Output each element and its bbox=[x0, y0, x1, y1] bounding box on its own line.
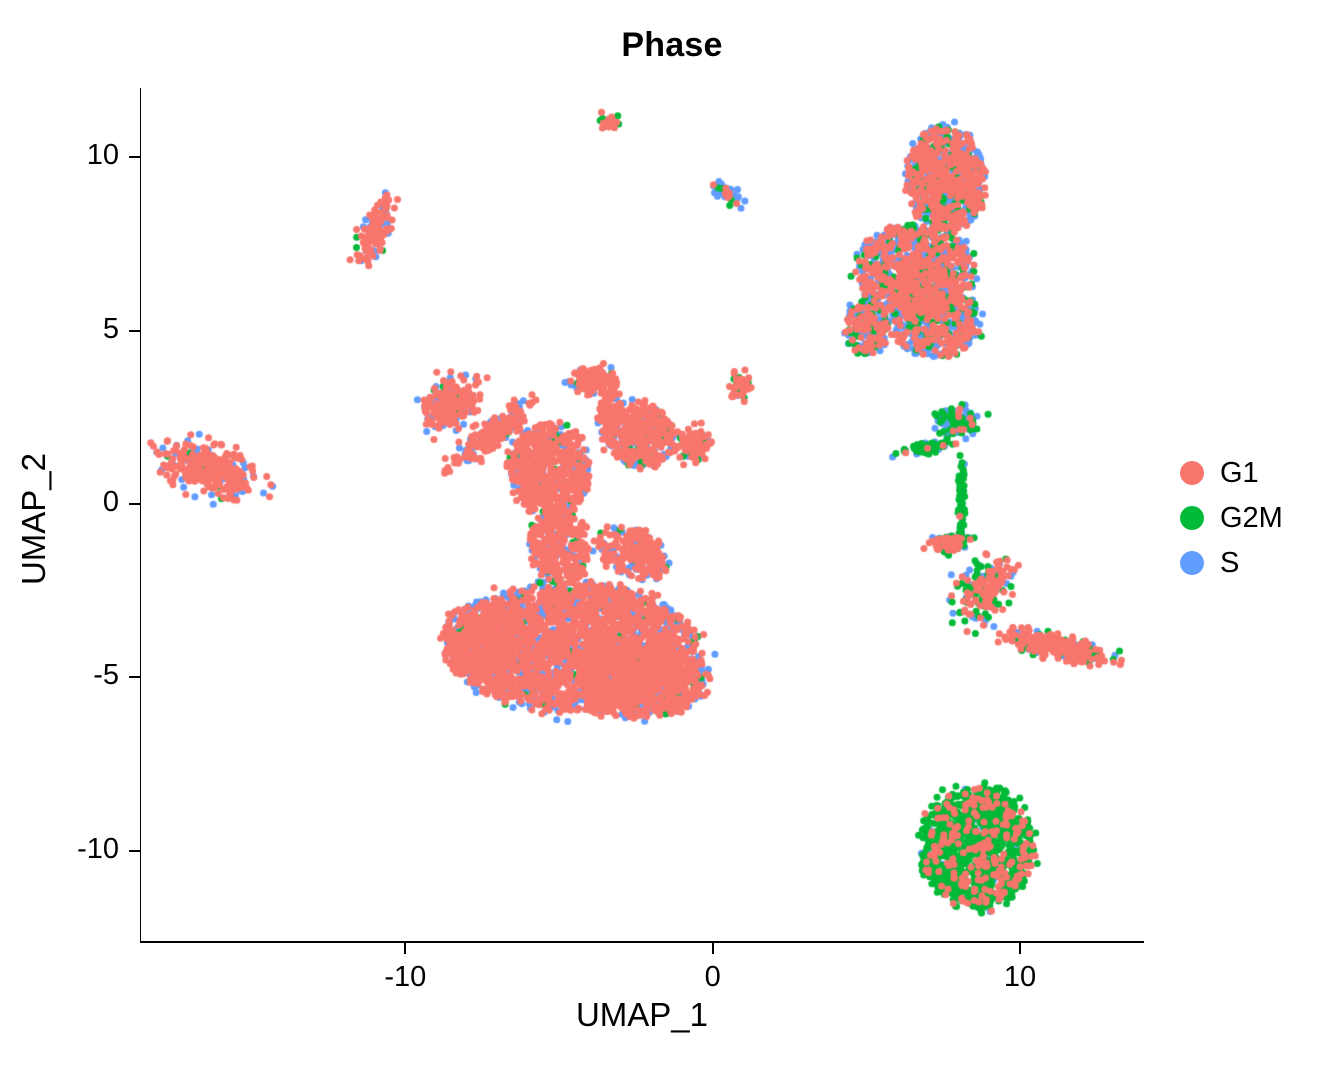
x-axis-tick-mark bbox=[1019, 943, 1021, 954]
legend: G1G2MS bbox=[1180, 455, 1330, 590]
y-axis-tick-label: -10 bbox=[11, 833, 119, 866]
x-axis-tick-mark bbox=[404, 943, 406, 954]
circle-marker-icon bbox=[1180, 506, 1204, 530]
legend-item-s[interactable]: S bbox=[1180, 545, 1330, 581]
x-axis-tick-label: 0 bbox=[643, 961, 783, 994]
legend-item-g2m[interactable]: G2M bbox=[1180, 500, 1330, 536]
legend-item-label: S bbox=[1220, 549, 1239, 578]
y-axis-tick-label: 5 bbox=[11, 313, 119, 346]
x-axis-line bbox=[140, 941, 1144, 943]
y-axis-tick-mark bbox=[129, 503, 140, 505]
y-axis-tick-mark bbox=[129, 676, 140, 678]
y-axis-tick-label: 10 bbox=[11, 139, 119, 172]
y-axis-tick-mark bbox=[129, 330, 140, 332]
y-axis-label: UMAP_2 bbox=[15, 369, 53, 669]
plot-panel bbox=[141, 88, 1143, 941]
legend-item-label: G2M bbox=[1220, 504, 1283, 533]
x-axis-label: UMAP_1 bbox=[141, 996, 1143, 1034]
legend-item-label: G1 bbox=[1220, 459, 1259, 488]
umap-scatter-figure: Phase 1050-5-10 -10010 UMAP_1 UMAP_2 G1G… bbox=[0, 0, 1344, 1075]
x-axis-tick-label: 10 bbox=[950, 961, 1090, 994]
scatter-plot-canvas bbox=[141, 88, 1143, 941]
legend-item-g1[interactable]: G1 bbox=[1180, 455, 1330, 491]
circle-marker-icon bbox=[1180, 461, 1204, 485]
y-axis-tick-mark bbox=[129, 850, 140, 852]
x-axis-tick-label: -10 bbox=[335, 961, 475, 994]
page-title: Phase bbox=[0, 26, 1344, 65]
y-axis-tick-mark bbox=[129, 156, 140, 158]
x-axis-tick-mark bbox=[712, 943, 714, 954]
circle-marker-icon bbox=[1180, 551, 1204, 575]
